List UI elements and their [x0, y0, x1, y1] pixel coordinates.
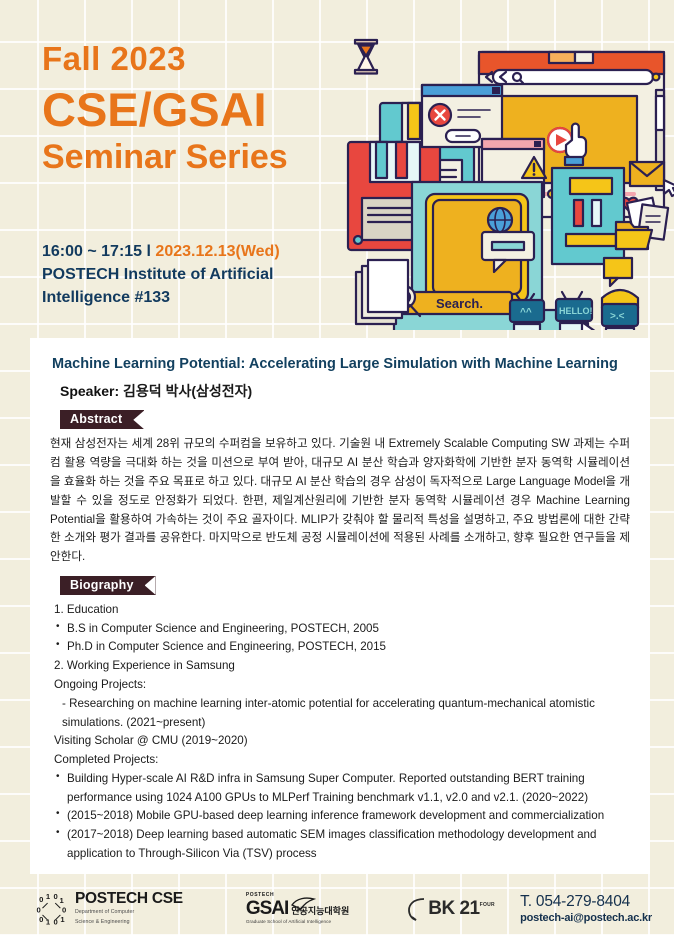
svg-text:1: 1 [60, 915, 65, 924]
postech-cse-binary-mark: 0101 00 0101 [34, 892, 68, 926]
biography-line: - Researching on machine learning inter-… [54, 695, 630, 733]
retro-computing-illustration: Search. [334, 0, 674, 330]
biography-line: Building Hyper-scale AI R&D infra in Sam… [54, 770, 630, 808]
biography-line: B.S in Computer Science and Engineering,… [54, 620, 630, 639]
postech-cse-subtitle-1: Department of Computer [75, 909, 183, 917]
svg-text:0: 0 [39, 915, 43, 924]
abstract-body: 현재 삼성전자는 세계 28위 규모의 수퍼컴을 보유하고 있다. 기술원 내 … [50, 435, 630, 566]
svg-text:0: 0 [39, 895, 43, 904]
contact-phone: T. 054-279-8404 [520, 892, 652, 911]
biography-line: 1. Education [54, 601, 630, 620]
biography-line: Completed Projects: [54, 751, 630, 770]
svg-text:1: 1 [46, 892, 51, 901]
gsai-bird-icon [290, 896, 316, 912]
system-error-dialog [422, 85, 502, 147]
series-subtitle: Seminar Series [42, 139, 288, 176]
svg-text:0: 0 [37, 905, 41, 914]
event-venue-line-1: POSTECH Institute of Artificial [42, 263, 280, 286]
poster-title-block: Fall 2023 CSE/GSAI Seminar Series [42, 42, 288, 176]
biography-line: (2015~2018) Mobile GPU-based deep learni… [54, 807, 630, 826]
hourglass-icon [355, 40, 377, 74]
gsai-logo: POSTECH GSAI 인공지능대학원 Graduate School of … [246, 893, 349, 925]
postech-cse-title: POSTECH CSE [75, 891, 183, 907]
term-label: Fall 2023 [42, 42, 288, 77]
server-tower [552, 168, 624, 264]
contact-email: postech-ai@postech.ac.kr [520, 912, 652, 926]
biography-line: Visiting Scholar @ CMU (2019~2020) [54, 732, 630, 751]
biography-line: Ongoing Projects: [54, 676, 630, 695]
postech-cse-subtitle-2: Science & Engineering [75, 919, 183, 927]
svg-text:0: 0 [62, 905, 66, 914]
document-stack [356, 260, 408, 324]
event-venue-line-2: Intelligence #133 [42, 286, 280, 309]
series-name: CSE/GSAI [42, 83, 288, 137]
speaker-label: Speaker: [60, 383, 123, 399]
seminar-poster: Search. [0, 0, 674, 935]
biography-heading-ribbon: Biography [60, 576, 156, 595]
small-popup [604, 258, 632, 286]
folder-icon [616, 222, 652, 249]
robot-smile: ^^ [510, 294, 544, 330]
postech-cse-logo: 0101 00 0101 POSTECH CSE Department of C… [34, 891, 183, 926]
biography-list: 1. EducationB.S in Computer Science and … [54, 601, 630, 864]
bk21-logo: BK 21 FOUR [407, 896, 495, 922]
event-time: 16:00 ~ 17:15 l [42, 243, 155, 260]
abstract-heading-ribbon: Abstract [60, 410, 144, 429]
content-panel: Machine Learning Potential: Accelerating… [30, 338, 650, 874]
biography-line: 2. Working Experience in Samsung [54, 657, 630, 676]
speaker-line: Speaker: 김용덕 박사(삼성전자) [60, 381, 636, 401]
svg-text:0: 0 [54, 892, 58, 901]
svg-text:>.<: >.< [610, 311, 625, 322]
svg-text:1: 1 [60, 896, 65, 905]
robot-wink: >.< [602, 290, 638, 330]
bk21-text: BK 21 [428, 898, 479, 920]
event-meta-block: 16:00 ~ 17:15 l 2023.12.13(Wed) POSTECH … [42, 240, 280, 310]
biography-line: (2017~2018) Deep learning based automati… [54, 826, 630, 864]
gsai-main-text: GSAI [246, 899, 288, 918]
svg-text:^^: ^^ [520, 307, 532, 318]
gsai-subtitle: Graduate School of Artificial Intelligen… [246, 920, 349, 925]
bk21-arc-icon [407, 896, 427, 922]
postech-cse-wordmark: POSTECH CSE Department of Computer Scien… [75, 891, 183, 926]
talk-title: Machine Learning Potential: Accelerating… [52, 352, 636, 377]
bk21-four-label: FOUR [480, 902, 495, 908]
poster-header: Search. [0, 0, 674, 330]
contact-block: T. 054-279-8404 postech-ai@postech.ac.kr [520, 892, 652, 925]
biography-line: Ph.D in Computer Science and Engineering… [54, 638, 630, 657]
event-date: 2023.12.13(Wed) [155, 243, 279, 260]
event-time-date: 16:00 ~ 17:15 l 2023.12.13(Wed) [42, 240, 280, 263]
speaker-name: 김용덕 박사(삼성전자) [123, 383, 252, 399]
svg-text:Search.: Search. [436, 296, 483, 311]
svg-text:HELLO!: HELLO! [559, 306, 593, 316]
poster-footer: 0101 00 0101 POSTECH CSE Department of C… [0, 883, 674, 935]
